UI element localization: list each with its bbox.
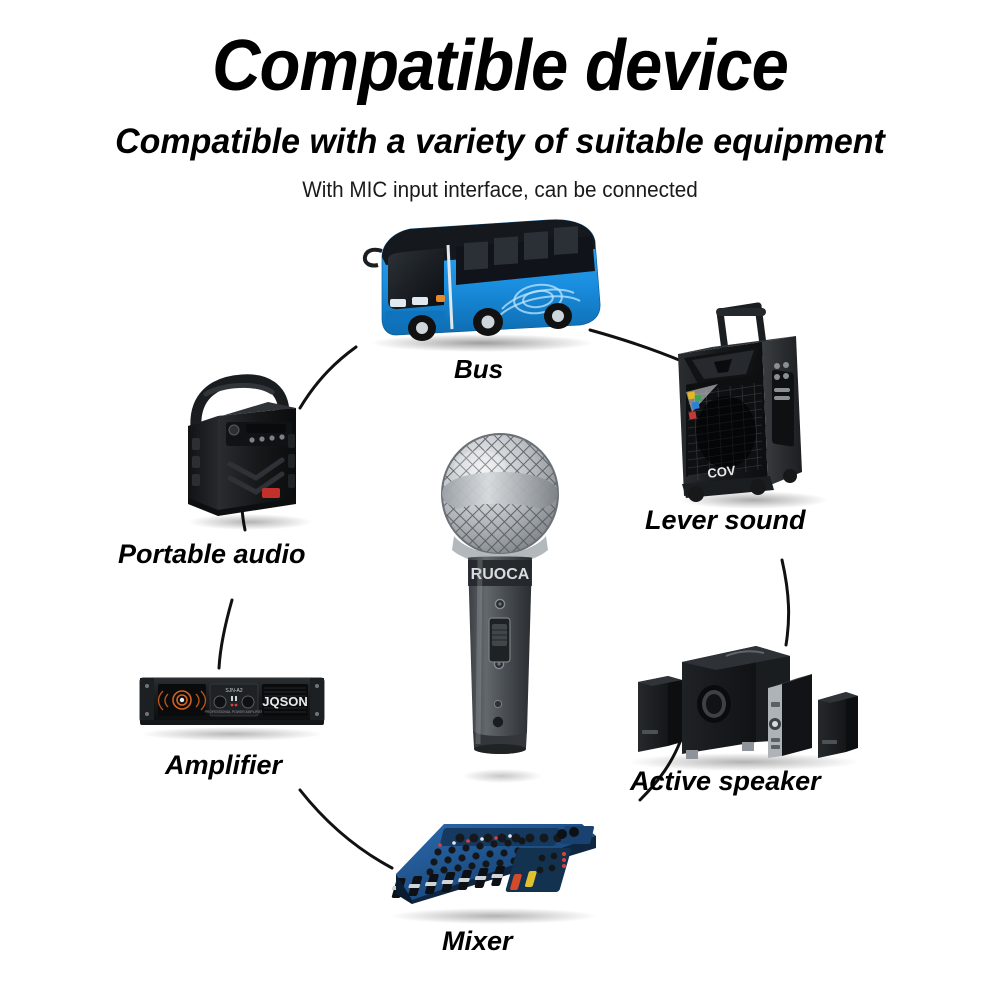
arc-to-amplifier <box>219 600 232 668</box>
svg-text:PROFESSIONAL POWER AMPLIFIER: PROFESSIONAL POWER AMPLIFIER <box>205 710 264 714</box>
amplifier-model-text: SJN-A2 <box>225 688 242 694</box>
label-active-speaker: Active speaker <box>630 768 821 795</box>
node-amplifier: SJN-A2 PROFESSIONAL POWER AMPLIFIER JQSO… <box>132 662 332 742</box>
node-mixer <box>382 812 606 924</box>
node-lever-sound: COV <box>662 300 842 512</box>
node-bus <box>352 215 610 355</box>
node-portable-audio <box>172 372 324 532</box>
label-amplifier: Amplifier <box>165 752 282 779</box>
node-microphone: RUOCA <box>428 432 576 784</box>
node-active-speaker <box>622 622 866 772</box>
label-mixer: Mixer <box>442 928 513 955</box>
infographic-page: Compatible device Compatible with a vari… <box>0 0 1000 1000</box>
arc-to-mixer-left <box>300 790 392 868</box>
amplifier-brand-text: JQSON <box>262 694 308 709</box>
label-lever-sound: Lever sound <box>645 507 806 534</box>
label-portable-audio: Portable audio <box>118 541 306 568</box>
label-bus: Bus <box>454 356 503 382</box>
